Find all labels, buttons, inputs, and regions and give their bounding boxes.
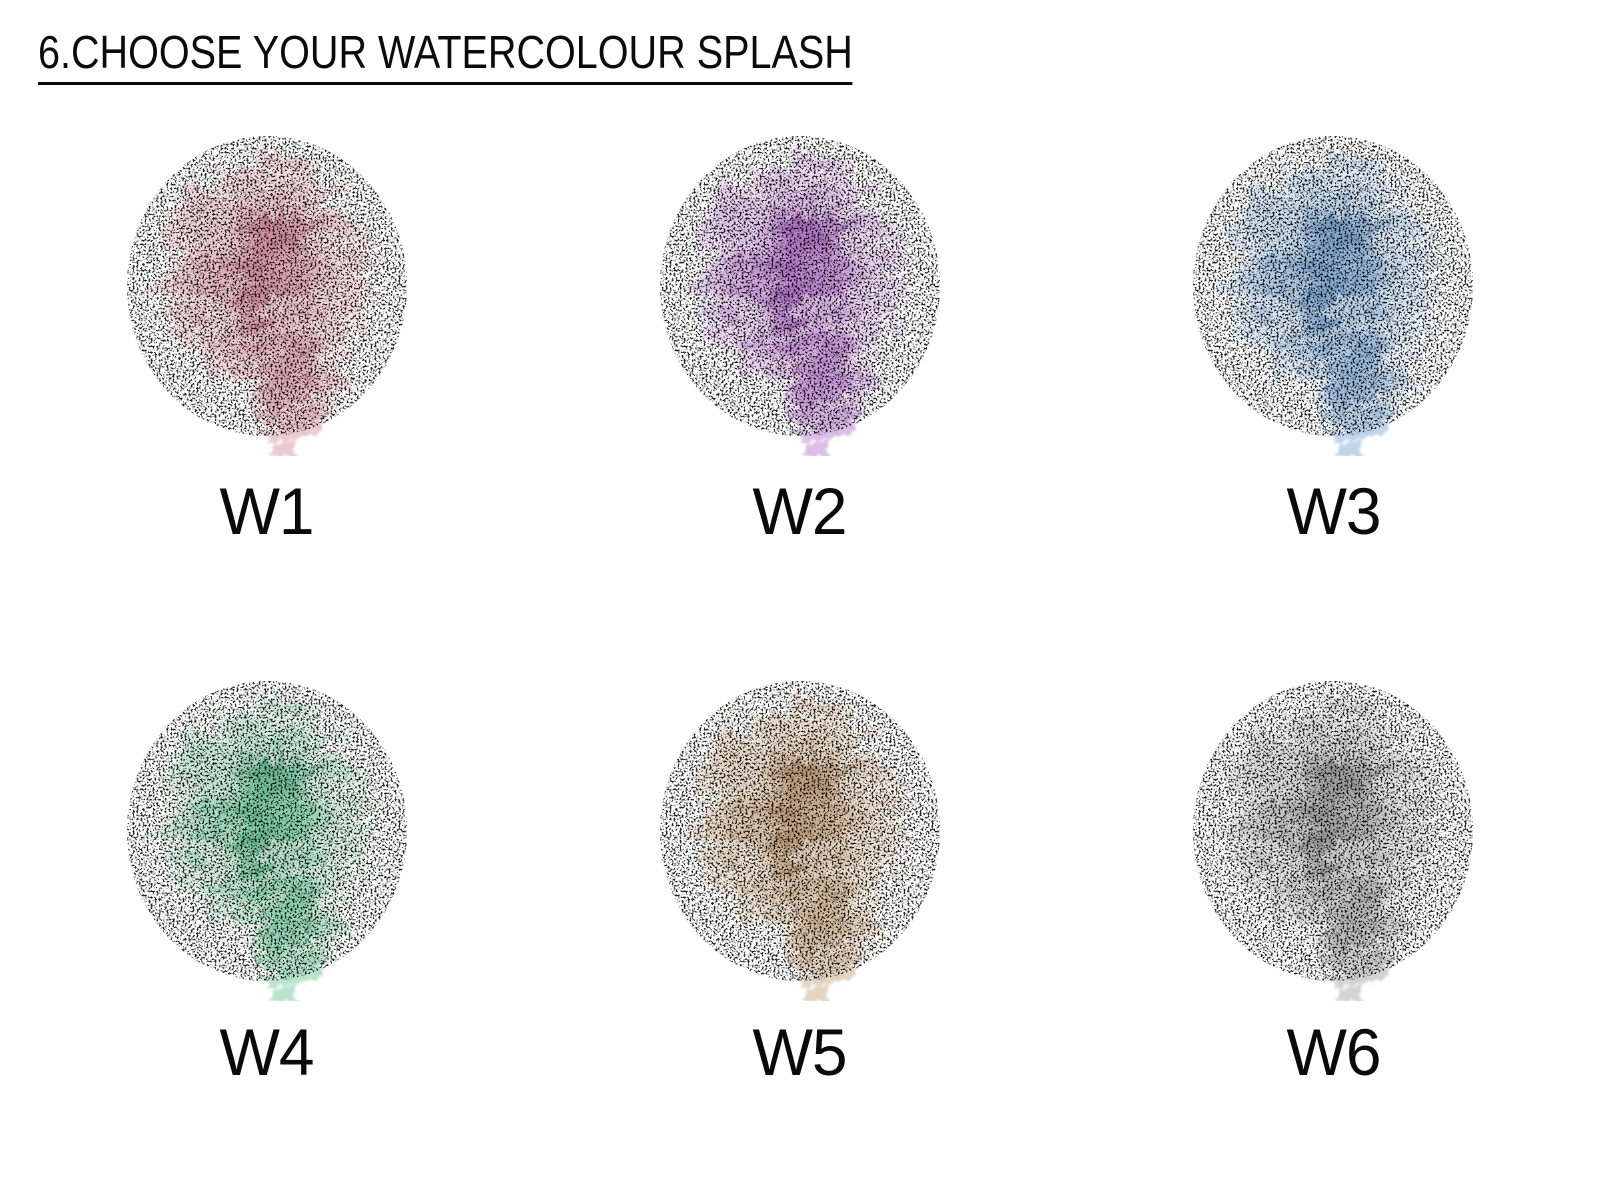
watercolour-splash-icon [1183, 116, 1483, 456]
splash-w5[interactable] [650, 661, 950, 1001]
watercolour-splash-icon [650, 116, 950, 456]
splash-w4[interactable] [117, 661, 417, 1001]
watercolour-swatch-grid: W1 [0, 96, 1600, 1186]
swatch-option-w5[interactable]: W5 [533, 641, 1066, 1186]
swatch-label-w1: W1 [220, 478, 314, 544]
splash-w3[interactable] [1183, 116, 1483, 456]
swatch-option-w4[interactable]: W4 [0, 641, 533, 1186]
swatch-label-w3: W3 [1286, 478, 1380, 544]
watercolour-splash-icon [117, 116, 417, 456]
swatch-label-w6: W6 [1286, 1019, 1380, 1085]
swatch-option-w6[interactable]: W6 [1067, 641, 1600, 1186]
swatch-option-w1[interactable]: W1 [0, 96, 533, 641]
watercolour-splash-icon [1183, 661, 1483, 1001]
swatch-option-w3[interactable]: W3 [1067, 96, 1600, 641]
splash-w1[interactable] [117, 116, 417, 456]
swatch-label-w5: W5 [753, 1019, 847, 1085]
splash-w6[interactable] [1183, 661, 1483, 1001]
watercolour-splash-icon [650, 661, 950, 1001]
page-title: 6.CHOOSE YOUR WATERCOLOUR SPLASH [38, 26, 853, 85]
splash-w2[interactable] [650, 116, 950, 456]
swatch-option-w2[interactable]: W2 [533, 96, 1066, 641]
watercolour-splash-icon [117, 661, 417, 1001]
swatch-label-w4: W4 [220, 1019, 314, 1085]
swatch-label-w2: W2 [753, 478, 847, 544]
